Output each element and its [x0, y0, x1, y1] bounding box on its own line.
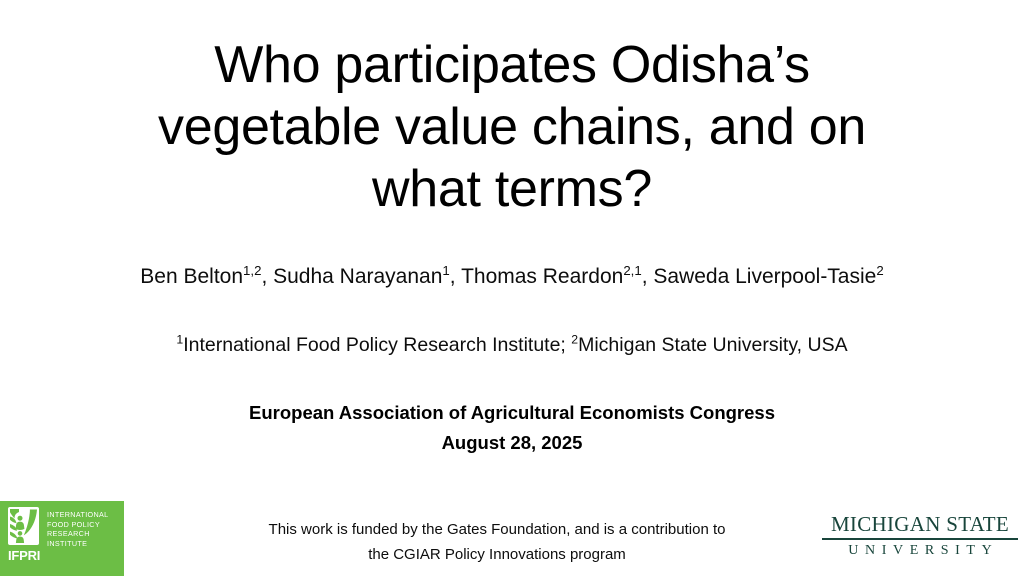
title-line-3: what terms?	[90, 158, 934, 220]
affiliation-2-name: Michigan State University, USA	[578, 334, 848, 356]
page-title: Who participates Odisha’s vegetable valu…	[90, 34, 934, 220]
author-list: Ben Belton1,2, Sudha Narayanan1, Thomas …	[40, 263, 984, 291]
author-3-affiliation-marker: 2,1	[623, 263, 641, 278]
ifpri-name-line-4: INSTITUTE	[47, 539, 109, 549]
conference-block: European Association of Agricultural Eco…	[40, 398, 984, 458]
msu-logo-divider	[822, 538, 1018, 540]
author-3-name: Thomas Reardon	[461, 265, 623, 288]
author-3-separator: ,	[642, 265, 654, 288]
author-1-name: Ben Belton	[140, 265, 243, 288]
funding-line-1: This work is funded by the Gates Foundat…	[182, 517, 812, 542]
funding-acknowledgement: This work is funded by the Gates Foundat…	[182, 517, 812, 567]
author-4-name: Saweda Liverpool-Tasie	[653, 265, 876, 288]
michigan-state-university-logo: MICHIGAN STATE UNIVERSITY	[822, 513, 1018, 559]
ifpri-logo: IFPRI INTERNATIONAL FOOD POLICY RESEARCH…	[0, 501, 124, 576]
ifpri-full-name: INTERNATIONAL FOOD POLICY RESEARCH INSTI…	[47, 507, 109, 548]
author-4-affiliation-marker: 2	[876, 263, 883, 278]
ifpri-name-line-3: RESEARCH	[47, 529, 109, 539]
author-1: Ben Belton1,2,	[140, 265, 273, 288]
author-3: Thomas Reardon2,1,	[461, 265, 653, 288]
conference-date: August 28, 2025	[40, 428, 984, 458]
author-2-separator: ,	[450, 265, 461, 288]
ifpri-name-line-1: INTERNATIONAL	[47, 510, 109, 520]
msu-logo-line-1: MICHIGAN STATE	[822, 513, 1018, 536]
author-2-affiliation-marker: 1	[442, 263, 449, 278]
author-2: Sudha Narayanan1,	[273, 265, 461, 288]
ifpri-name-line-2: FOOD POLICY	[47, 520, 109, 530]
author-1-separator: ,	[261, 265, 273, 288]
conference-name: European Association of Agricultural Eco…	[40, 398, 984, 428]
affiliation-list: 1International Food Policy Research Inst…	[40, 332, 984, 358]
title-line-1: Who participates Odisha’s	[90, 34, 934, 96]
author-4: Saweda Liverpool-Tasie2	[653, 265, 883, 288]
author-2-name: Sudha Narayanan	[273, 265, 442, 288]
ifpri-logo-left: IFPRI	[8, 507, 40, 563]
ifpri-wordmark: IFPRI	[8, 548, 40, 563]
affiliation-2: 2Michigan State University, USA	[571, 334, 847, 356]
ifpri-sprout-people-mark-icon	[8, 507, 39, 545]
author-1-affiliation-marker: 1,2	[243, 263, 261, 278]
affiliation-1: 1International Food Policy Research Inst…	[176, 334, 571, 356]
presentation-title-slide: Who participates Odisha’s vegetable valu…	[0, 0, 1024, 576]
title-line-2: vegetable value chains, and on	[90, 96, 934, 158]
msu-logo-line-2: UNIVERSITY	[822, 542, 1018, 559]
funding-line-2: the CGIAR Policy Innovations program	[182, 542, 812, 567]
affiliation-1-name: International Food Policy Research Insti…	[183, 334, 571, 356]
